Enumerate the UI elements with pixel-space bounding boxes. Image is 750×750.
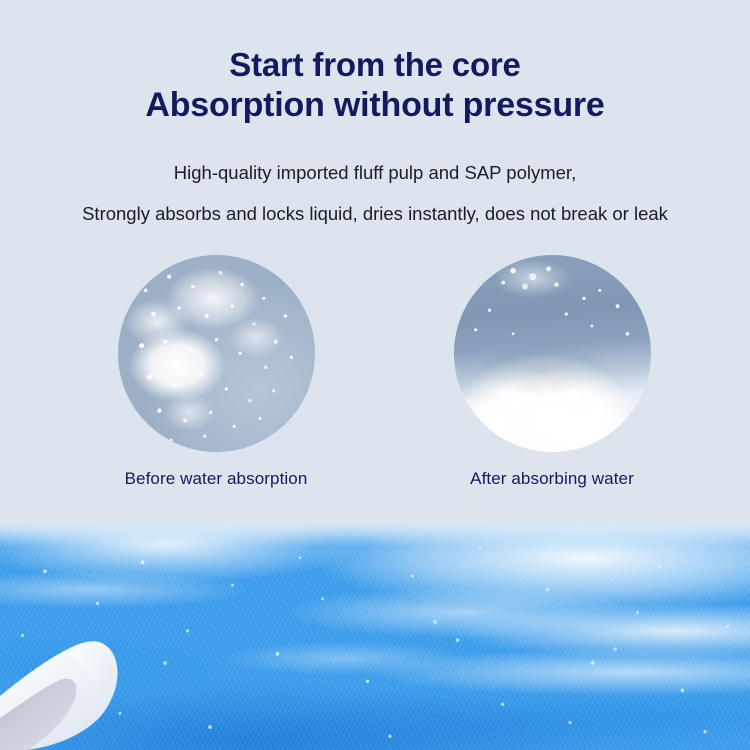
subtitle-block: High-quality imported fluff pulp and SAP… (0, 152, 750, 234)
comparison-item-after: After absorbing water (422, 255, 682, 490)
page-title: Start from the core Absorption without p… (0, 44, 750, 126)
dry-sap-powder-photo (118, 255, 315, 452)
hero-sparkle-specks (0, 521, 750, 750)
comparison-section: Before water absorption After absorbing … (0, 255, 750, 495)
headline-line-1: Start from the core (0, 44, 750, 85)
caption-before-water-absorption: Before water absorption (86, 468, 346, 490)
product-feature-banner: Start from the core Absorption without p… (0, 0, 750, 750)
comparison-item-before: Before water absorption (86, 255, 346, 490)
headline-line-2: Absorption without pressure (0, 85, 750, 126)
caption-after-absorbing-water: After absorbing water (422, 468, 682, 490)
absorbent-gel-water-closeup-photo (0, 521, 750, 750)
subtitle-line-1: High-quality imported fluff pulp and SAP… (0, 152, 750, 193)
hero-top-fade (0, 521, 750, 547)
swollen-sap-gel-photo (454, 255, 651, 452)
subtitle-line-2: Strongly absorbs and locks liquid, dries… (0, 193, 750, 234)
